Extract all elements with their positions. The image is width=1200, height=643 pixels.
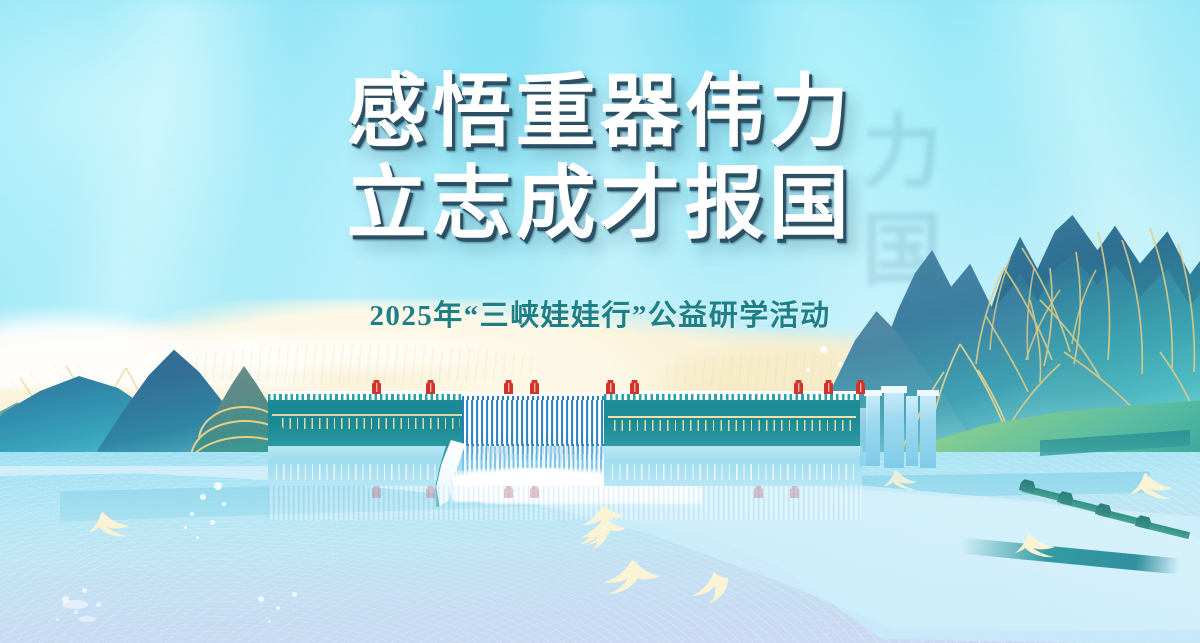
ship-lift-tower-1-cap <box>864 390 882 396</box>
dam-reflection <box>268 486 862 520</box>
dam-right-lower-teeth <box>612 464 856 480</box>
dam-left-goldline <box>272 414 462 416</box>
poster-canvas: 力 国 <box>0 0 1200 643</box>
swallow-bird-6 <box>89 510 133 540</box>
dam-right-gate-teeth <box>614 420 854 431</box>
swallow-bird-1 <box>600 556 664 596</box>
ship-lift-tower-3 <box>906 396 918 466</box>
ship-lift-tower-2-cap <box>881 386 907 393</box>
title-line-1: 感悟重器伟力 <box>0 72 1200 152</box>
swallow-bird-5 <box>580 504 624 534</box>
swallow-bird-7 <box>1015 530 1059 560</box>
dam-left-gate-teeth <box>282 418 460 429</box>
dam-left-base <box>268 446 468 460</box>
dam-right-base <box>604 446 862 460</box>
dam-left-lower-teeth <box>276 464 462 480</box>
ship-lift-tower-4 <box>920 392 936 468</box>
poster-title: 感悟重器伟力 立志成才报国 <box>0 72 1200 244</box>
ship-lift-tower-1 <box>866 392 880 466</box>
cloud-texture-left <box>180 344 540 384</box>
ship-lift-tower-4-cap <box>917 390 939 396</box>
swallow-bird-8 <box>1130 470 1176 502</box>
dam-right-goldline <box>608 416 856 418</box>
swallow-bird-2 <box>690 570 732 606</box>
ship-lift-tower-2 <box>884 388 904 468</box>
ship-lift-tower-5 <box>860 408 868 466</box>
poster-subtitle: 2025年“三峡娃娃行”公益研学活动 <box>0 292 1200 334</box>
title-line-2: 立志成才报国 <box>0 164 1200 244</box>
swallow-bird-9 <box>884 468 920 492</box>
